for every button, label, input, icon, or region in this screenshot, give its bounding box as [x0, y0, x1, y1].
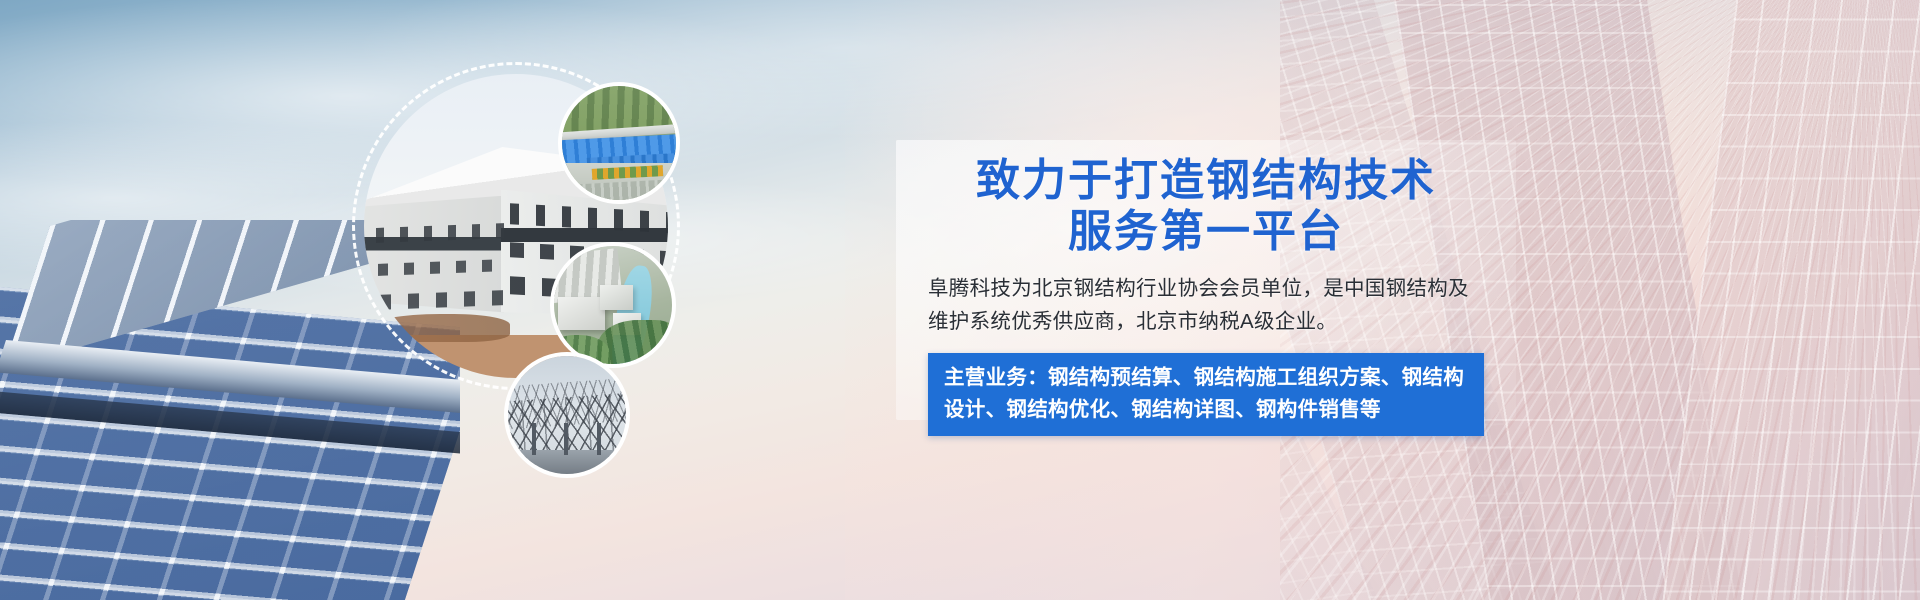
small-photo-circle-1 [558, 82, 680, 204]
banner-text-content: 致力于打造钢结构技术 服务第一平台 阜腾科技为北京钢结构行业协会会员单位，是中国… [896, 140, 1516, 430]
small-photo-circle-3 [504, 352, 630, 478]
small-photo-circle-2 [550, 242, 676, 368]
banner-description: 阜腾科技为北京钢结构行业协会会员单位，是中国钢结构及维护系统优秀供应商，北京市纳… [928, 273, 1484, 339]
photo-steel-column [532, 423, 536, 456]
main-business-box: 主营业务：钢结构预结算、钢结构施工组织方案、钢结构设计、钢结构优化、钢结构详图、… [928, 353, 1484, 437]
hero-banner: 致力于打造钢结构技术 服务第一平台 阜腾科技为北京钢结构行业协会会员单位，是中国… [0, 0, 1920, 600]
photo-campus-building [558, 297, 606, 330]
aerial-factory-blue-roof-photo [558, 82, 680, 204]
photo-campus-building [600, 285, 633, 310]
headline-line-1: 致力于打造钢结构技术 [976, 155, 1436, 206]
photo-circle-cluster [352, 52, 742, 472]
aerial-campus-river-photo [550, 242, 676, 368]
steel-truss-space-frame-photo [504, 352, 630, 478]
photo-steel-column [564, 423, 568, 456]
photo-steel-column [597, 423, 601, 456]
banner-headline: 致力于打造钢结构技术 服务第一平台 [976, 156, 1436, 257]
headline-line-2: 服务第一平台 [976, 207, 1436, 258]
photo-rubble-mound [370, 314, 510, 341]
